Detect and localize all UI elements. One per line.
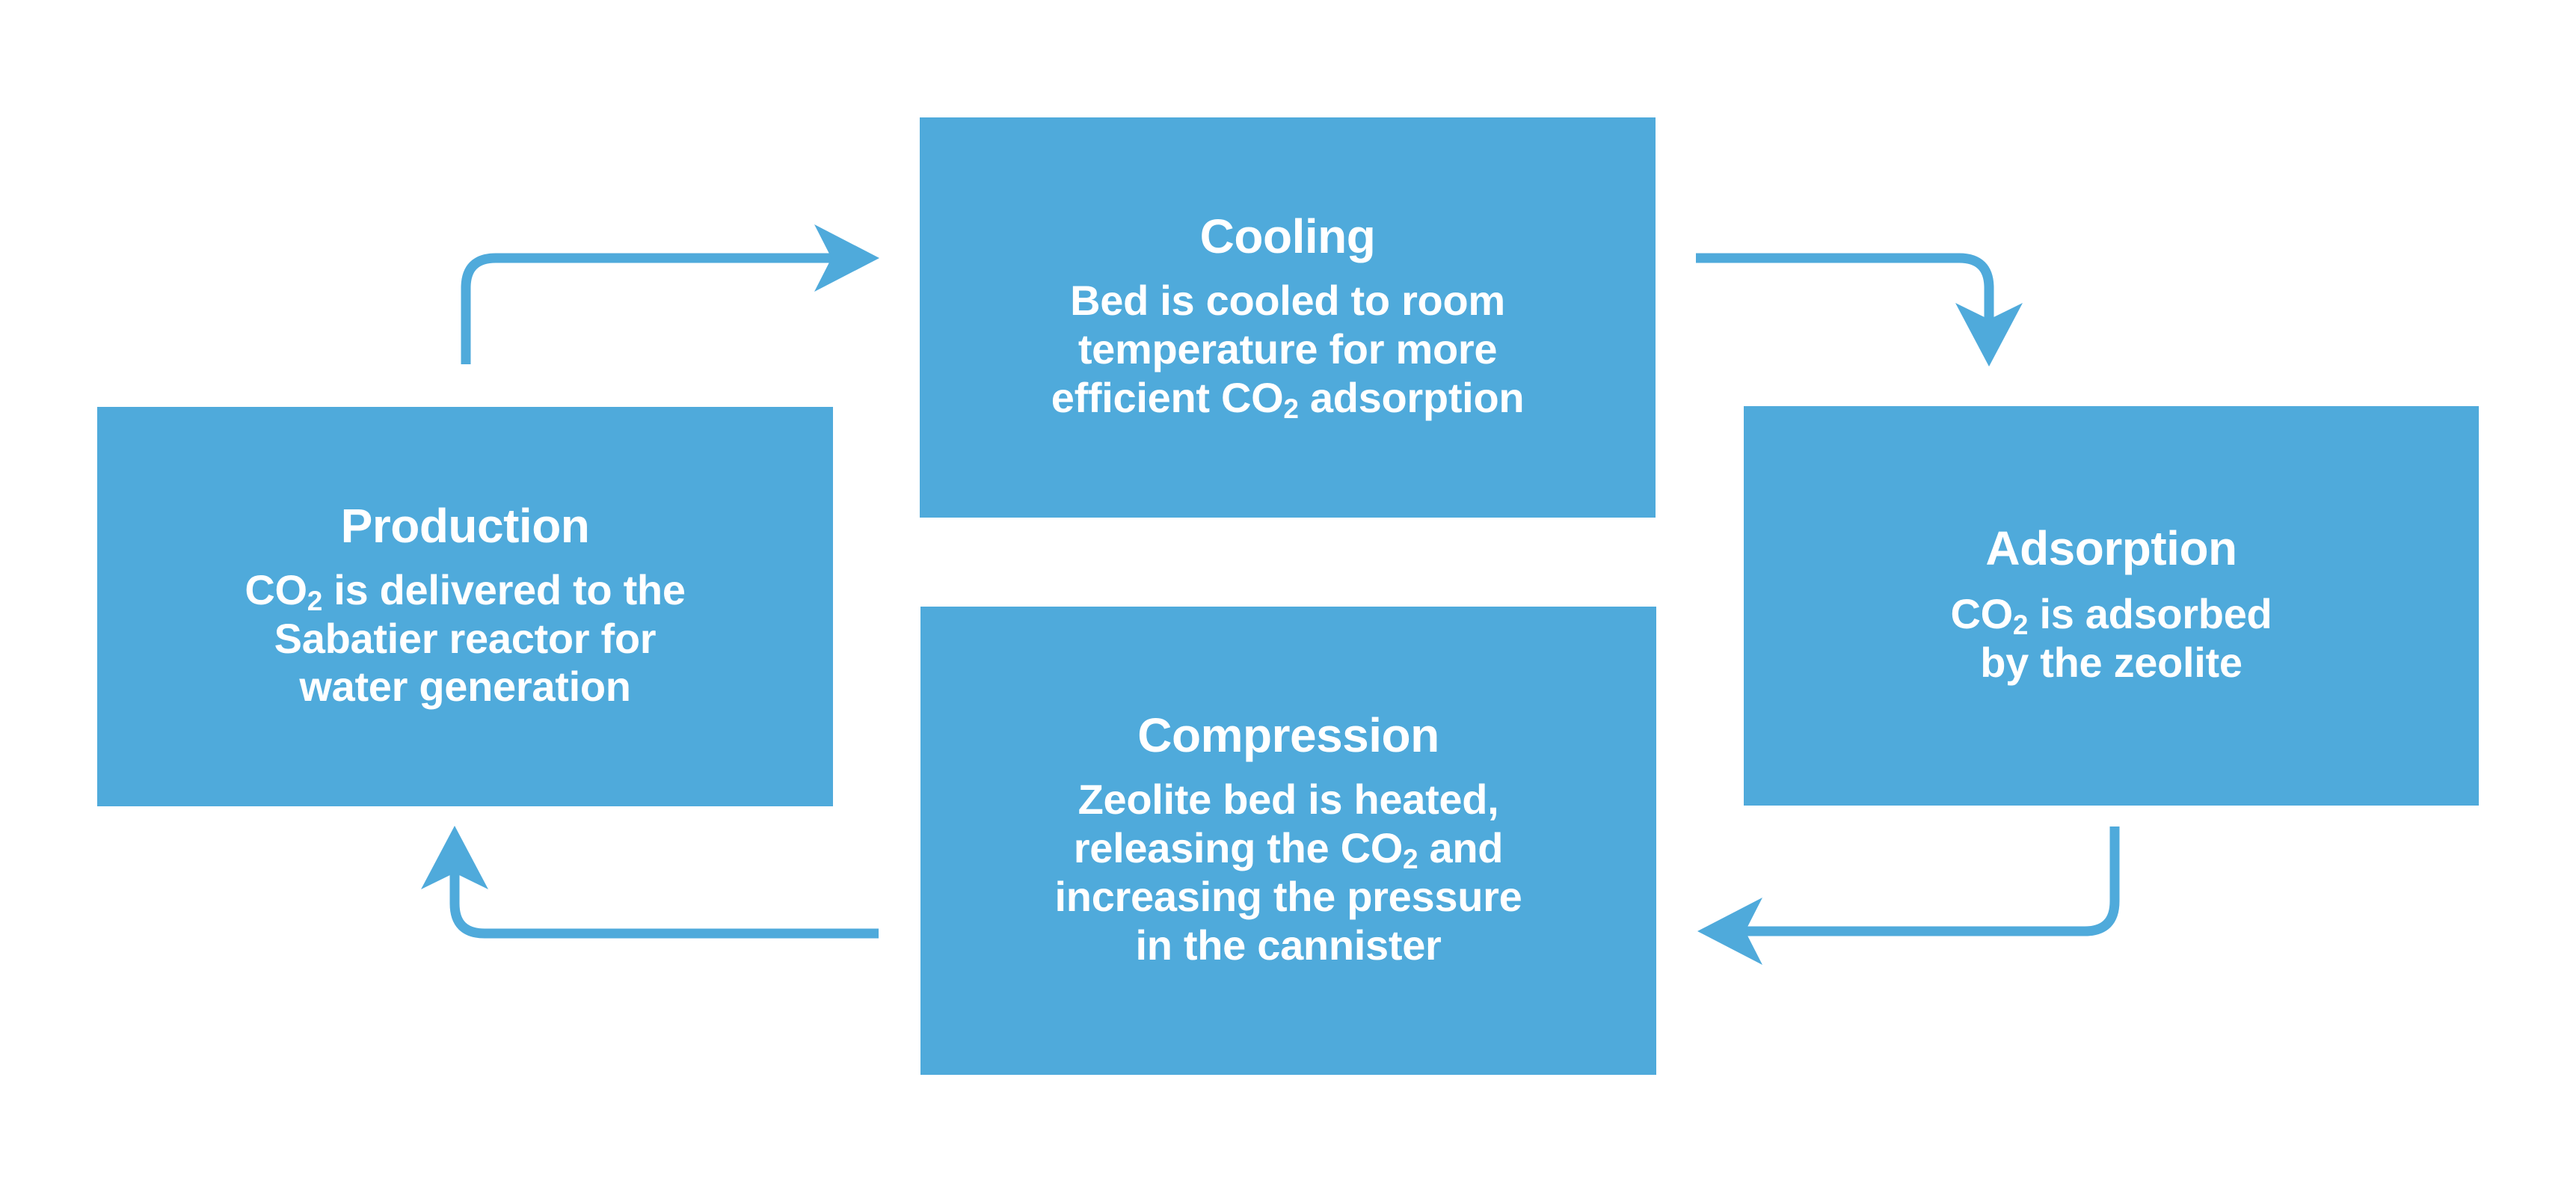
node-compression-title: Compression [1137, 711, 1439, 759]
connector-cooling-to-adsorption [1696, 258, 2023, 367]
node-cooling-title: Cooling [1200, 212, 1376, 260]
node-production-body-line-2: Sabatier reactor for [245, 615, 685, 663]
node-production[interactable]: Production CO2 is delivered to the Sabat… [97, 407, 833, 806]
connector-compression-to-production [421, 826, 879, 933]
node-adsorption[interactable]: Adsorption CO2 is adsorbed by the zeolit… [1744, 406, 2479, 806]
node-cooling[interactable]: Cooling Bed is cooled to room temperatur… [920, 117, 1656, 518]
diagram-canvas: Production CO2 is delivered to the Sabat… [0, 0, 2576, 1193]
node-compression-body: Zeolite bed is heated, releasing the CO2… [1055, 776, 1522, 970]
arrowhead-up-icon [421, 826, 488, 889]
node-production-body-line-3: water generation [245, 663, 685, 711]
node-compression-body-line-4: in the cannister [1055, 921, 1522, 970]
node-adsorption-title: Adsorption [1985, 524, 2237, 572]
node-cooling-body-line-2: temperature for more [1051, 325, 1525, 374]
node-compression-body-line-3: increasing the pressure [1055, 873, 1522, 921]
node-compression-body-line-2: releasing the CO2 and [1055, 824, 1522, 873]
node-cooling-body: Bed is cooled to room temperature for mo… [1051, 277, 1525, 423]
node-adsorption-body-line-1: CO2 is adsorbed [1951, 590, 2272, 639]
node-adsorption-body-line-2: by the zeolite [1951, 639, 2272, 687]
node-production-title: Production [341, 502, 590, 550]
node-production-body-line-1: CO2 is delivered to the [245, 566, 685, 615]
arrowhead-left-icon [1697, 898, 1762, 965]
arrowhead-down-icon [1955, 303, 2023, 367]
node-cooling-body-line-1: Bed is cooled to room [1051, 277, 1525, 325]
node-production-body: CO2 is delivered to the Sabatier reactor… [245, 566, 685, 712]
node-compression-body-line-1: Zeolite bed is heated, [1055, 776, 1522, 824]
node-cooling-body-line-3: efficient CO2 adsorption [1051, 374, 1525, 423]
arrowhead-right-icon [814, 224, 879, 292]
node-adsorption-body: CO2 is adsorbed by the zeolite [1951, 590, 2272, 687]
connector-adsorption-to-compression [1697, 826, 2115, 965]
connector-production-to-cooling [466, 224, 879, 364]
node-compression[interactable]: Compression Zeolite bed is heated, relea… [920, 607, 1656, 1075]
